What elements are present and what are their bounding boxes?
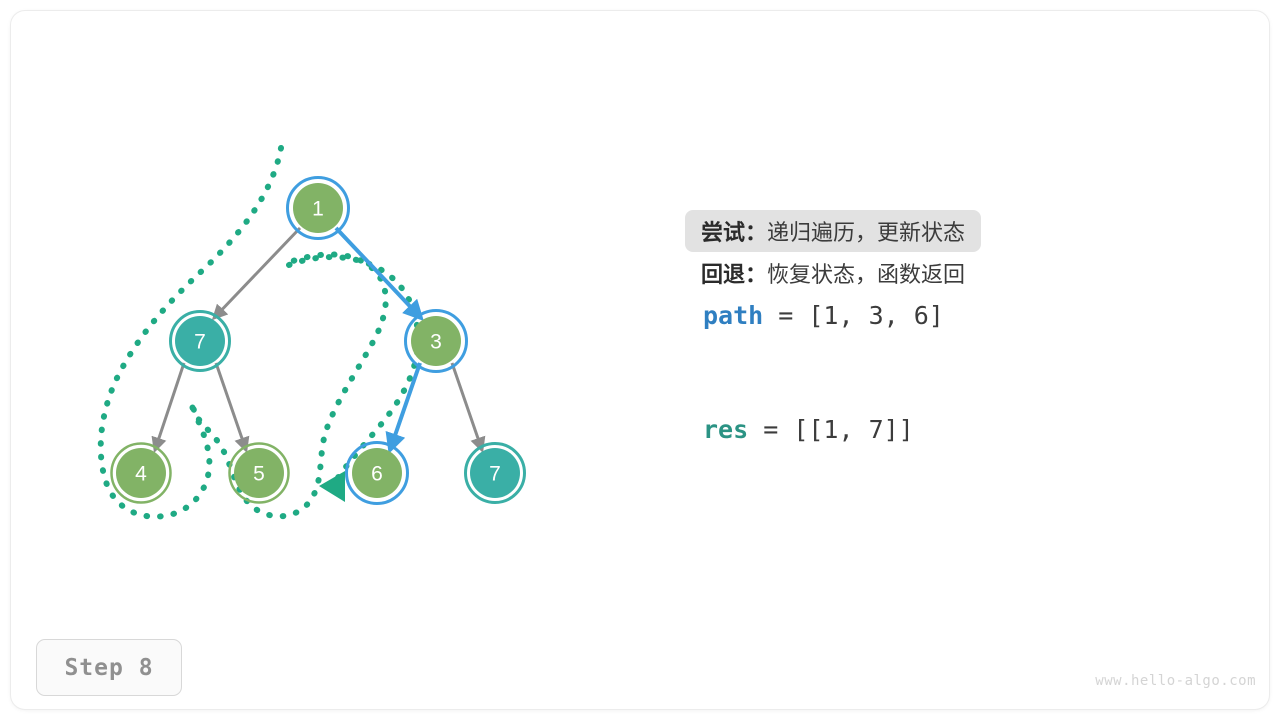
state-panel: 尝试：递归遍历，更新状态 回退：恢复状态，函数返回 path = [1, 3, … (685, 210, 1205, 450)
node-label: 7 (194, 331, 206, 354)
node-label: 1 (312, 198, 324, 221)
tree-node-1[interactable]: 1 (288, 178, 349, 239)
node-label: 4 (135, 463, 147, 486)
edge-1-3 (336, 228, 421, 318)
tree-node-3[interactable]: 3 (406, 311, 467, 372)
path-value: [1, 3, 6] (808, 301, 943, 330)
figure-canvas: 1 7 3 4 5 6 7 (0, 0, 1280, 720)
backtrack-text: 恢复状态，函数返回 (767, 257, 965, 289)
path-row: path = [1, 3, 6] (685, 294, 1205, 336)
res-row: res = [[1, 7]] (685, 408, 1205, 450)
tree-node-6[interactable]: 6 (347, 443, 408, 504)
tree-node-4[interactable]: 4 (112, 444, 171, 503)
tree-node-5[interactable]: 5 (230, 444, 289, 503)
res-value: [[1, 7]] (793, 415, 913, 444)
backtrack-row: 回退：恢复状态，函数返回 (685, 252, 981, 294)
node-label: 5 (253, 463, 265, 486)
step-badge-label: Step 8 (64, 655, 153, 681)
edge-7l-4 (155, 363, 184, 450)
try-text: 递归遍历，更新状态 (767, 215, 965, 247)
step-badge: Step 8 (36, 639, 182, 696)
tree-node-7-right[interactable]: 7 (466, 444, 525, 503)
backtrack-arrowhead (319, 471, 345, 502)
edge-3-6 (390, 363, 420, 450)
edge-7l-5 (216, 363, 246, 450)
panel-spacer (685, 336, 1205, 408)
path-variable: path (703, 301, 763, 330)
path-equals: = (763, 301, 808, 330)
try-label: 尝试： (701, 215, 767, 247)
edge-3-7r (452, 363, 482, 450)
node-label: 3 (430, 331, 442, 354)
node-label: 6 (371, 463, 383, 486)
watermark: www.hello-algo.com (1095, 673, 1256, 689)
res-variable: res (703, 415, 748, 444)
res-equals: = (748, 415, 793, 444)
node-label: 7 (489, 463, 501, 486)
tree-node-7-left[interactable]: 7 (171, 312, 230, 371)
try-row: 尝试：递归遍历，更新状态 (685, 210, 981, 252)
backtrack-label: 回退： (701, 257, 767, 289)
